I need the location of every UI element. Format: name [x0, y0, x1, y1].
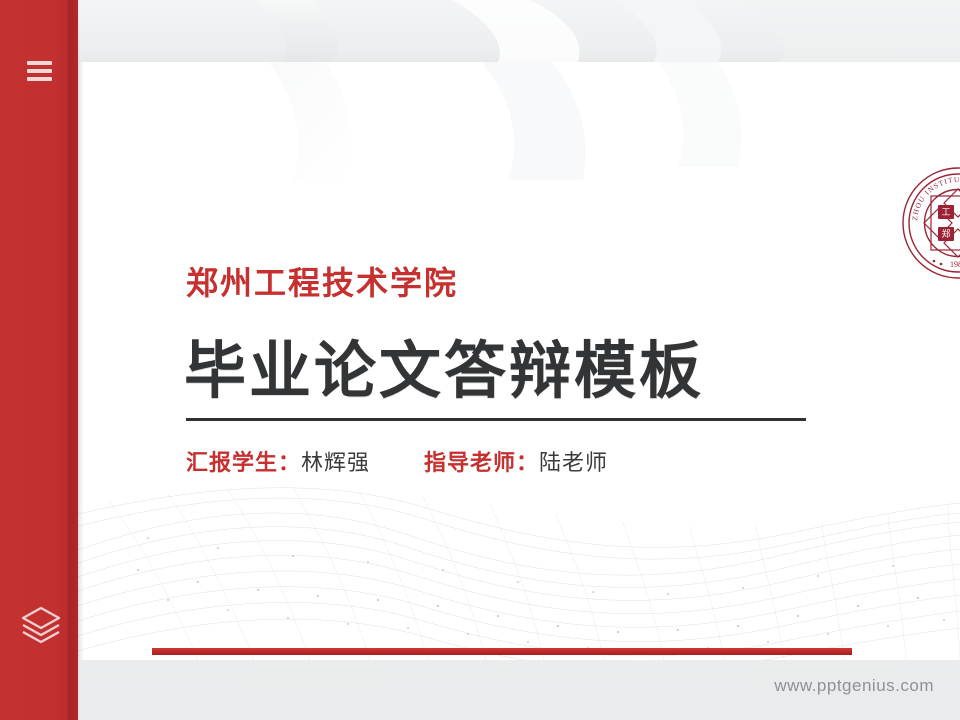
student-name: 林辉强 — [301, 445, 370, 477]
presentation-slide: ZHENGZHOU INSTITUTE OF TECHNOLOGY 工程 郑州 — [0, 0, 960, 720]
university-name: 郑州工程技术学院 — [186, 258, 458, 304]
page-title: 毕业论文答辩模板 — [184, 320, 704, 410]
hamburger-bar-1 — [27, 61, 52, 65]
website-footer[interactable]: www.pptgenius.com — [0, 676, 960, 696]
title-divider — [186, 418, 806, 421]
bottom-accent-bar — [152, 648, 852, 655]
university-logo: ZHENGZHOU INSTITUTE OF TECHNOLOGY 工程 郑州 — [900, 165, 960, 281]
top-background-band — [78, 0, 960, 62]
hamburger-bar-2 — [27, 69, 52, 73]
hamburger-bar-3 — [27, 77, 52, 81]
presenter-info: 汇报学生： 林辉强 指导老师： 陆老师 — [186, 445, 608, 477]
student-label: 汇报学生： — [186, 445, 301, 477]
advisor-name: 陆老师 — [539, 445, 608, 477]
hamburger-menu-icon[interactable] — [27, 61, 52, 81]
svg-text:郑: 郑 — [941, 228, 950, 239]
logo-year: 1980 — [950, 260, 960, 269]
top-swirl-graphic — [78, 0, 960, 62]
advisor-label: 指导老师： — [424, 445, 539, 477]
layers-stack-icon[interactable] — [18, 601, 64, 647]
svg-text:工: 工 — [941, 207, 950, 217]
